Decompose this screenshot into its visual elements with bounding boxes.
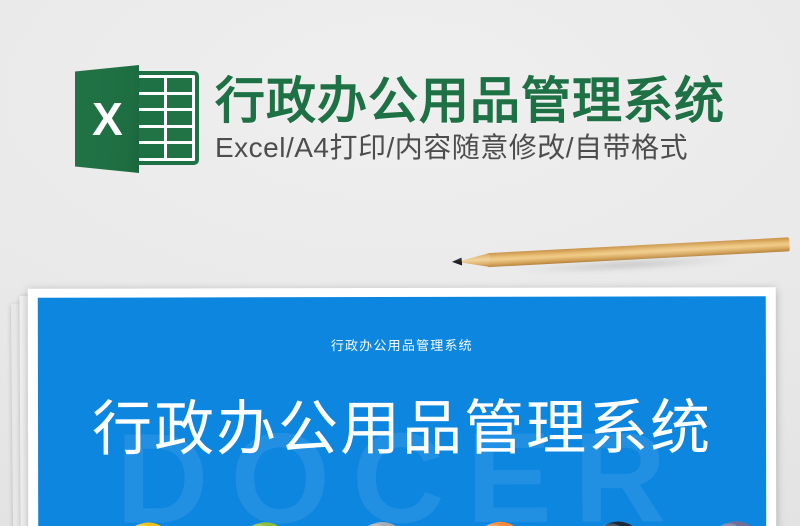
pen-caps-row <box>38 521 766 526</box>
spreadsheet-grid-icon <box>131 71 199 165</box>
document-preview-stack[interactable]: DOCER 行政办公用品管理系统 行政办公用品管理系统 <box>10 286 770 526</box>
excel-logo-icon: X <box>75 65 199 173</box>
cap-gray <box>360 522 404 526</box>
pencil-wood-tip <box>460 253 491 269</box>
cap-purple <box>714 521 758 526</box>
brand-inner: X 行政办公用品管理系统 Excel/A4打印/内容随意修改/自带格式 <box>75 65 725 173</box>
preview-cover-card[interactable]: DOCER 行政办公用品管理系统 行政办公用品管理系统 <box>28 287 777 526</box>
cap-yellow <box>126 522 170 526</box>
cover-main-title: 行政办公用品管理系统 <box>38 396 766 461</box>
cover-inner: DOCER 行政办公用品管理系统 行政办公用品管理系统 <box>38 296 767 526</box>
cap-navy <box>596 522 640 526</box>
cap-green <box>243 522 287 526</box>
pencil-graphite-tip <box>452 257 462 266</box>
page-title: 行政办公用品管理系统 <box>215 74 725 128</box>
page-subtitle: Excel/A4打印/内容随意修改/自带格式 <box>215 132 725 164</box>
cap-orange <box>478 522 522 526</box>
excel-x-letter: X <box>75 65 139 173</box>
brand-header: X 行政办公用品管理系统 Excel/A4打印/内容随意修改/自带格式 <box>0 0 800 232</box>
brand-text-block: 行政办公用品管理系统 Excel/A4打印/内容随意修改/自带格式 <box>215 74 725 164</box>
page-root: X 行政办公用品管理系统 Excel/A4打印/内容随意修改/自带格式 DOCE… <box>0 0 800 526</box>
cover-eyebrow-text: 行政办公用品管理系统 <box>38 334 766 355</box>
pencil-icon <box>451 228 792 280</box>
spreadsheet-cells <box>138 78 192 158</box>
